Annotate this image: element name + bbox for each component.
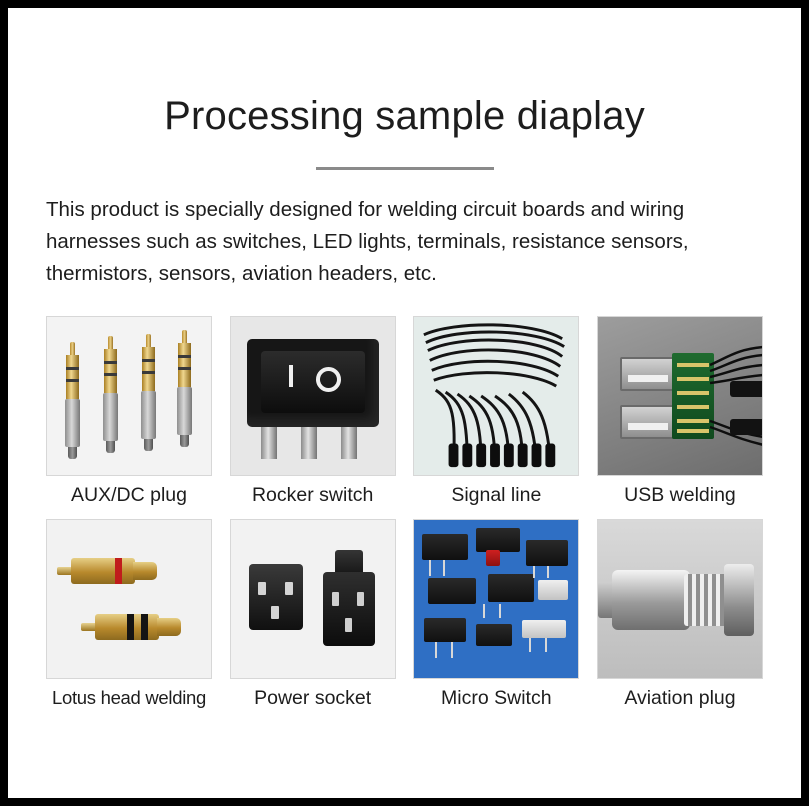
sample-caption: USB welding <box>597 484 763 507</box>
sample-caption: Aviation plug <box>597 687 763 710</box>
micro-switch-photo <box>413 519 579 679</box>
product-info-card: Processing sample diaplay This product i… <box>8 8 801 798</box>
rca-connector-black <box>81 614 191 640</box>
title-divider <box>316 167 494 170</box>
sample-row-2: Lotus head welding <box>46 519 763 710</box>
sample-item-lotus-head-welding: Lotus head welding <box>46 519 212 710</box>
sample-item-rocker-switch: Rocker switch <box>230 316 396 507</box>
rocker-switch-photo <box>230 316 396 476</box>
rocker-housing <box>247 339 379 427</box>
sample-item-usb-welding: USB welding <box>597 316 763 507</box>
sample-caption: AUX/DC plug <box>46 484 212 507</box>
aviation-plug-photo <box>597 519 763 679</box>
sample-item-aviation-plug: Aviation plug <box>597 519 763 710</box>
sample-caption: Lotus head welding <box>46 687 212 709</box>
intro-paragraph: This product is specially designed for w… <box>46 194 763 290</box>
plug-1 <box>65 342 80 459</box>
usb-port-bottom <box>620 405 676 439</box>
sample-caption: Signal line <box>413 484 579 507</box>
page-title: Processing sample diaplay <box>8 8 801 139</box>
micro-switch-pins-svg <box>414 520 579 679</box>
sample-caption: Micro Switch <box>413 687 579 710</box>
aviation-plug-thread <box>684 574 728 626</box>
wire-bundle-svg <box>414 317 578 475</box>
lotus-head-welding-photo <box>46 519 212 679</box>
power-socket-photo <box>230 519 396 679</box>
sample-caption: Power socket <box>230 687 396 710</box>
plug-3 <box>141 334 156 451</box>
usb-welding-photo <box>597 316 763 476</box>
usb-port-top <box>620 357 676 391</box>
iec-male-connector <box>249 564 303 630</box>
iec-female-connector <box>323 572 375 646</box>
sample-caption: Rocker switch <box>230 484 396 507</box>
sample-item-signal-line: Signal line <box>413 316 579 507</box>
plug-4 <box>177 330 192 447</box>
rca-connector-red <box>57 558 167 584</box>
signal-line-photo <box>413 316 579 476</box>
aviation-plug-front <box>724 564 754 636</box>
aux-dc-plug-photo <box>46 316 212 476</box>
sample-item-aux-dc-plug: AUX/DC plug <box>46 316 212 507</box>
rocker-key <box>261 351 365 413</box>
plug-2 <box>103 336 118 453</box>
sample-grid: AUX/DC plug Rocker switch <box>46 316 763 710</box>
sample-item-micro-switch: Micro Switch <box>413 519 579 710</box>
sample-row-1: AUX/DC plug Rocker switch <box>46 316 763 507</box>
usb-cable-svg <box>708 337 763 457</box>
sample-item-power-socket: Power socket <box>230 519 396 710</box>
aviation-plug-shell <box>612 570 690 630</box>
